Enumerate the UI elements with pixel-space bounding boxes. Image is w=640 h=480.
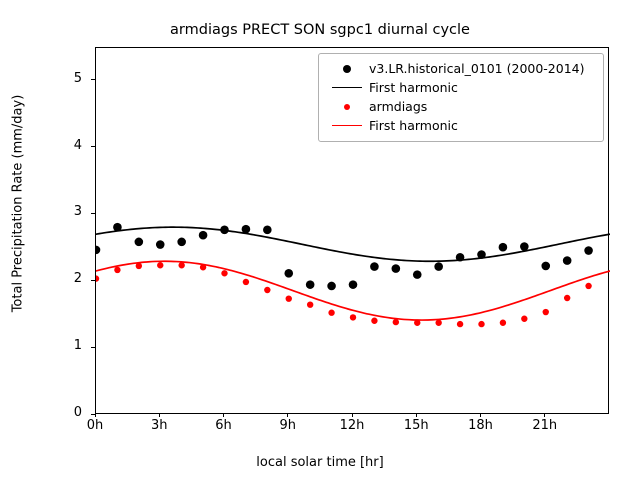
legend-label: v3.LR.historical_0101 (2000-2014) bbox=[369, 61, 585, 76]
x-tick-label: 18h bbox=[451, 418, 511, 433]
data-point bbox=[349, 280, 358, 289]
data-point bbox=[264, 287, 270, 293]
data-point bbox=[178, 262, 184, 268]
chart-title: armdiags PRECT SON sgpc1 diurnal cycle bbox=[0, 22, 640, 38]
legend-line-marker-icon bbox=[325, 87, 369, 89]
legend-label: First harmonic bbox=[369, 118, 458, 133]
data-point bbox=[263, 226, 272, 235]
data-point bbox=[392, 264, 401, 273]
x-tick-label: 3h bbox=[129, 418, 189, 433]
x-tick-label: 21h bbox=[515, 418, 575, 433]
data-point bbox=[157, 262, 163, 268]
line-icon bbox=[332, 125, 362, 127]
data-point bbox=[307, 302, 313, 308]
data-point bbox=[199, 231, 208, 240]
x-tick-label: 0h bbox=[65, 418, 125, 433]
data-point bbox=[284, 269, 293, 278]
data-point bbox=[306, 280, 315, 289]
data-point bbox=[156, 240, 165, 249]
harmonic-line bbox=[96, 227, 610, 261]
data-point bbox=[96, 246, 100, 255]
data-point bbox=[585, 283, 591, 289]
data-point bbox=[521, 316, 527, 322]
data-point bbox=[499, 243, 508, 252]
x-tick-label: 12h bbox=[322, 418, 382, 433]
y-tick-label: 4 bbox=[22, 138, 82, 153]
data-point bbox=[500, 320, 506, 326]
y-tick-label: 3 bbox=[22, 204, 82, 219]
legend-item: v3.LR.historical_0101 (2000-2014) bbox=[325, 59, 597, 78]
data-point bbox=[457, 321, 463, 327]
x-tick-label: 9h bbox=[258, 418, 318, 433]
data-point bbox=[114, 267, 120, 273]
figure: armdiags PRECT SON sgpc1 diurnal cycle T… bbox=[0, 0, 640, 480]
legend-label: armdiags bbox=[369, 99, 427, 114]
data-point bbox=[413, 270, 422, 279]
data-point bbox=[243, 279, 249, 285]
chart-legend: v3.LR.historical_0101 (2000-2014)First h… bbox=[318, 53, 604, 142]
data-point bbox=[177, 238, 186, 247]
dot-icon bbox=[344, 104, 350, 110]
y-tick-label: 5 bbox=[22, 71, 82, 86]
data-point bbox=[96, 275, 99, 281]
x-tick-label: 15h bbox=[386, 418, 446, 433]
data-point bbox=[584, 246, 593, 255]
legend-item: First harmonic bbox=[325, 116, 597, 135]
x-tick-label: 6h bbox=[194, 418, 254, 433]
legend-dot-marker-icon bbox=[325, 104, 369, 110]
y-tick-label: 1 bbox=[22, 338, 82, 353]
data-point bbox=[435, 320, 441, 326]
data-point bbox=[543, 309, 549, 315]
data-point bbox=[327, 282, 336, 291]
data-point bbox=[370, 262, 379, 271]
data-point bbox=[563, 256, 572, 265]
legend-dot-marker-icon bbox=[325, 65, 369, 73]
data-point bbox=[520, 242, 529, 251]
data-point bbox=[541, 262, 550, 271]
legend-item: armdiags bbox=[325, 97, 597, 116]
data-point bbox=[371, 318, 377, 324]
legend-item: First harmonic bbox=[325, 78, 597, 97]
y-tick-label: 2 bbox=[22, 271, 82, 286]
legend-label: First harmonic bbox=[369, 80, 458, 95]
data-point bbox=[393, 319, 399, 325]
data-point bbox=[221, 270, 227, 276]
data-point bbox=[328, 310, 334, 316]
harmonic-line bbox=[96, 261, 610, 320]
dot-icon bbox=[343, 65, 351, 73]
x-axis-label: local solar time [hr] bbox=[0, 455, 640, 470]
line-icon bbox=[332, 87, 362, 89]
data-point bbox=[135, 238, 144, 247]
legend-line-marker-icon bbox=[325, 125, 369, 127]
data-point bbox=[350, 314, 356, 320]
data-point bbox=[286, 295, 292, 301]
data-point bbox=[478, 321, 484, 327]
data-point bbox=[564, 295, 570, 301]
data-point bbox=[434, 262, 443, 271]
